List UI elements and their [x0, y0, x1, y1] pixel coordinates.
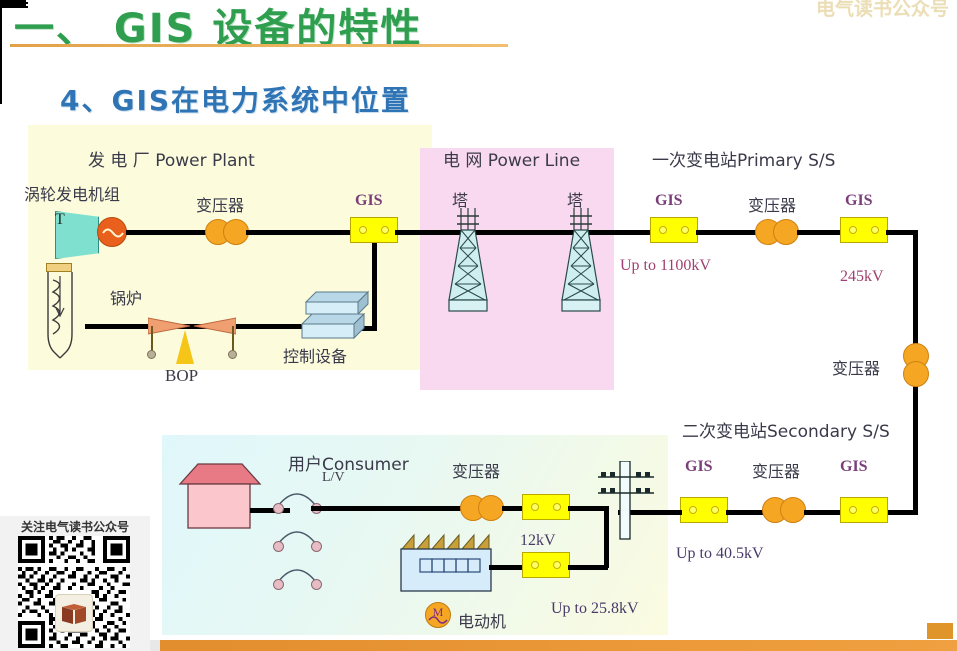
wire-switch-bus — [0, 8, 2, 86]
bop-dot-left — [147, 350, 156, 359]
label-bop: BOP — [165, 366, 198, 386]
label-motor: 电动机 — [458, 608, 506, 632]
label-secondary-gis-1: GIS — [685, 458, 713, 476]
wire-primary-gis-to-transformer — [696, 230, 756, 235]
bop-dot-right — [228, 350, 237, 359]
label-consumer-transformer: 变压器 — [452, 458, 500, 482]
label-boiler: 锅炉 — [110, 285, 142, 309]
wire-transformer-to-gis — [246, 230, 350, 235]
page-subtitle: 4、GIS在电力系统中位置 — [60, 79, 411, 119]
transformer-circle-2 — [773, 219, 799, 245]
caption-consumer-level: L/V — [322, 470, 345, 486]
wire-factory-feeder — [489, 565, 524, 570]
motor-icon: M — [425, 602, 451, 628]
qr-watermark-title: 关注电气读书公众号 — [2, 518, 148, 535]
title-underline — [10, 44, 508, 47]
gis-box-primary-in — [650, 217, 698, 243]
label-secondary-gis-2: GIS — [840, 458, 868, 476]
wire-transformer-to-primary-gis2 — [797, 230, 840, 235]
qr-center-logo — [55, 594, 93, 632]
tie-transformer-icon — [903, 343, 929, 387]
wire-consumer-riser — [604, 506, 609, 568]
factory-icon — [398, 531, 496, 598]
sine-wave-icon — [102, 227, 124, 239]
label-plant-gis: GIS — [355, 192, 383, 210]
wire-transformer-to-12kv-gis — [502, 506, 524, 511]
transformer-circle-2 — [780, 497, 806, 523]
caption-power-plant: 发 电 厂 Power Plant — [88, 146, 255, 171]
label-control-equipment: 控制设备 — [283, 343, 347, 367]
label-primary-gis-2: GIS — [845, 192, 873, 210]
wire-transformer-to-secondary-gis2 — [804, 510, 840, 515]
slide-canvas: 一、 GIS 设备的特性 4、GIS在电力系统中位置 发 电 厂 Power P… — [0, 0, 957, 651]
caption-power-line: 电 网 Power Line — [443, 146, 580, 171]
caption-secondary-substation: 二次变电站Secondary S/S — [682, 417, 890, 442]
gis-box-plant — [350, 217, 398, 243]
wire-gis-down — [372, 243, 377, 331]
gis-box-secondary-in — [680, 497, 728, 523]
boiler-cap — [46, 263, 72, 272]
transmission-tower-2 — [556, 208, 606, 323]
bottom-right-accent — [927, 623, 953, 639]
transformer-circle-2 — [478, 495, 504, 521]
gis-box-25-8kv — [522, 552, 570, 578]
primary-transformer-icon — [755, 219, 799, 245]
switch-dot-3a — [273, 579, 284, 590]
label-voltage-1100kv: Up to 1100kV — [620, 257, 711, 275]
transformer-circle-2 — [903, 361, 929, 387]
plant-transformer-icon — [205, 219, 249, 245]
label-primary-gis-1: GIS — [655, 192, 683, 210]
caption-consumer: 用户Consumer — [288, 450, 409, 475]
boiler-icon — [40, 272, 80, 362]
label-voltage-245kv: 245kV — [840, 268, 884, 286]
control-equipment-icon — [300, 280, 372, 347]
bop-stem-left — [151, 326, 153, 352]
label-voltage-12kv: 12kV — [520, 532, 556, 550]
switch-dot-2a — [273, 541, 284, 552]
generator-icon — [97, 217, 127, 247]
house-icon — [178, 462, 262, 535]
secondary-transformer-icon — [762, 497, 806, 523]
label-tie-transformer: 变压器 — [832, 355, 880, 379]
turbine-letter: T — [55, 211, 65, 229]
gis-box-primary-out — [840, 217, 888, 243]
label-turbine-generator: 涡轮发电机组 — [24, 181, 120, 205]
gis-box-12kv — [522, 494, 570, 520]
bop-actuator-icon — [176, 330, 194, 364]
wire-25-8kv-to-riser — [568, 565, 608, 570]
caption-primary-substation: 一次变电站Primary S/S — [652, 146, 835, 171]
wire-12kv-to-riser — [568, 506, 606, 511]
transmission-tower-1 — [443, 208, 493, 323]
wire-motor-lead — [0, 86, 2, 104]
switch-dot-1a — [273, 503, 284, 514]
label-voltage-25-8kv: Up to 25.8kV — [551, 600, 639, 618]
label-primary-transformer: 变压器 — [748, 192, 796, 216]
label-secondary-transformer: 变压器 — [752, 458, 800, 482]
bop-stem-right — [232, 326, 234, 352]
wire-power-line — [395, 230, 660, 235]
label-plant-transformer: 变压器 — [196, 192, 244, 216]
label-voltage-40-5kv: Up to 40.5kV — [676, 545, 764, 563]
wire-consumer-bus — [311, 506, 461, 511]
wire-generator-to-transformer — [126, 230, 210, 235]
gis-box-secondary-out — [840, 497, 888, 523]
consumer-transformer-icon — [460, 495, 504, 521]
switch-dot-3b — [311, 579, 322, 590]
watermark-top-text: 电气读书公众号 — [816, 0, 949, 21]
qr-watermark: 关注电气读书公众号 — [0, 516, 150, 651]
switch-dot-2b — [311, 541, 322, 552]
